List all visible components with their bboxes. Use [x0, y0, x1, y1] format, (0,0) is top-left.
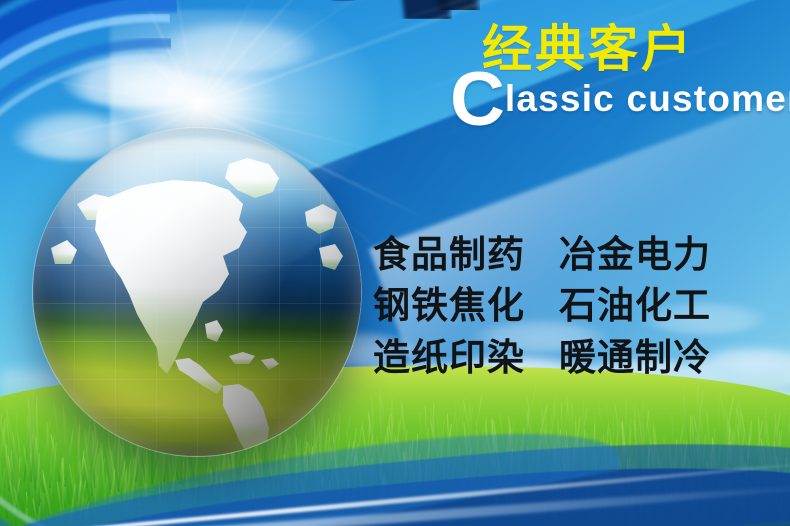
globe-rim — [33, 128, 361, 456]
industry-row: 造纸印染 暖通制冷 — [373, 335, 773, 381]
industry-item: 造纸印染 — [373, 335, 525, 381]
classic-customer-banner: Classic customer 经典客户 食品制药 冶金电力 钢铁焦化 石油化… — [0, 0, 790, 526]
chinese-title: 经典客户 — [482, 24, 694, 74]
industry-item: 石油化工 — [559, 283, 711, 329]
english-title-rest: lassic customer — [505, 78, 790, 119]
industry-item: 冶金电力 — [559, 232, 711, 278]
industry-row: 食品制药 冶金电力 — [373, 232, 773, 278]
industry-item: 暖通制冷 — [559, 335, 711, 381]
industry-item: 钢铁焦化 — [373, 283, 525, 329]
earth-globe-icon — [33, 128, 361, 456]
headline-block: Classic customer 经典客户 — [450, 24, 780, 139]
industry-item: 食品制药 — [373, 232, 525, 278]
industry-list: 食品制药 冶金电力 钢铁焦化 石油化工 造纸印染 暖通制冷 — [373, 232, 773, 386]
industry-row: 钢铁焦化 石油化工 — [373, 283, 773, 329]
